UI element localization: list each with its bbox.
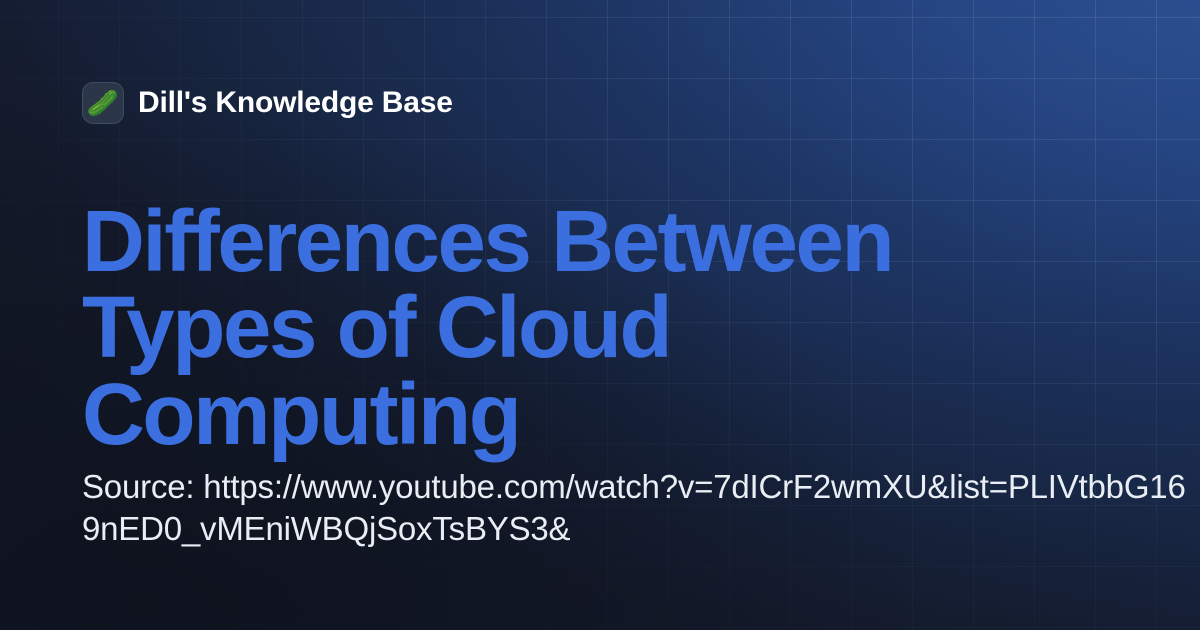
social-share-card: 🥒 Dill's Knowledge Base Differences Betw… <box>0 0 1200 630</box>
source-url-text: Source: https://www.youtube.com/watch?v=… <box>82 466 1200 549</box>
cucumber-icon: 🥒 <box>82 82 124 124</box>
brand-row: 🥒 Dill's Knowledge Base <box>82 82 453 124</box>
card-content: 🥒 Dill's Knowledge Base Differences Betw… <box>0 0 1200 630</box>
brand-name-label: Dill's Knowledge Base <box>138 86 453 120</box>
page-title: Differences Between Types of Cloud Compu… <box>82 199 1112 457</box>
